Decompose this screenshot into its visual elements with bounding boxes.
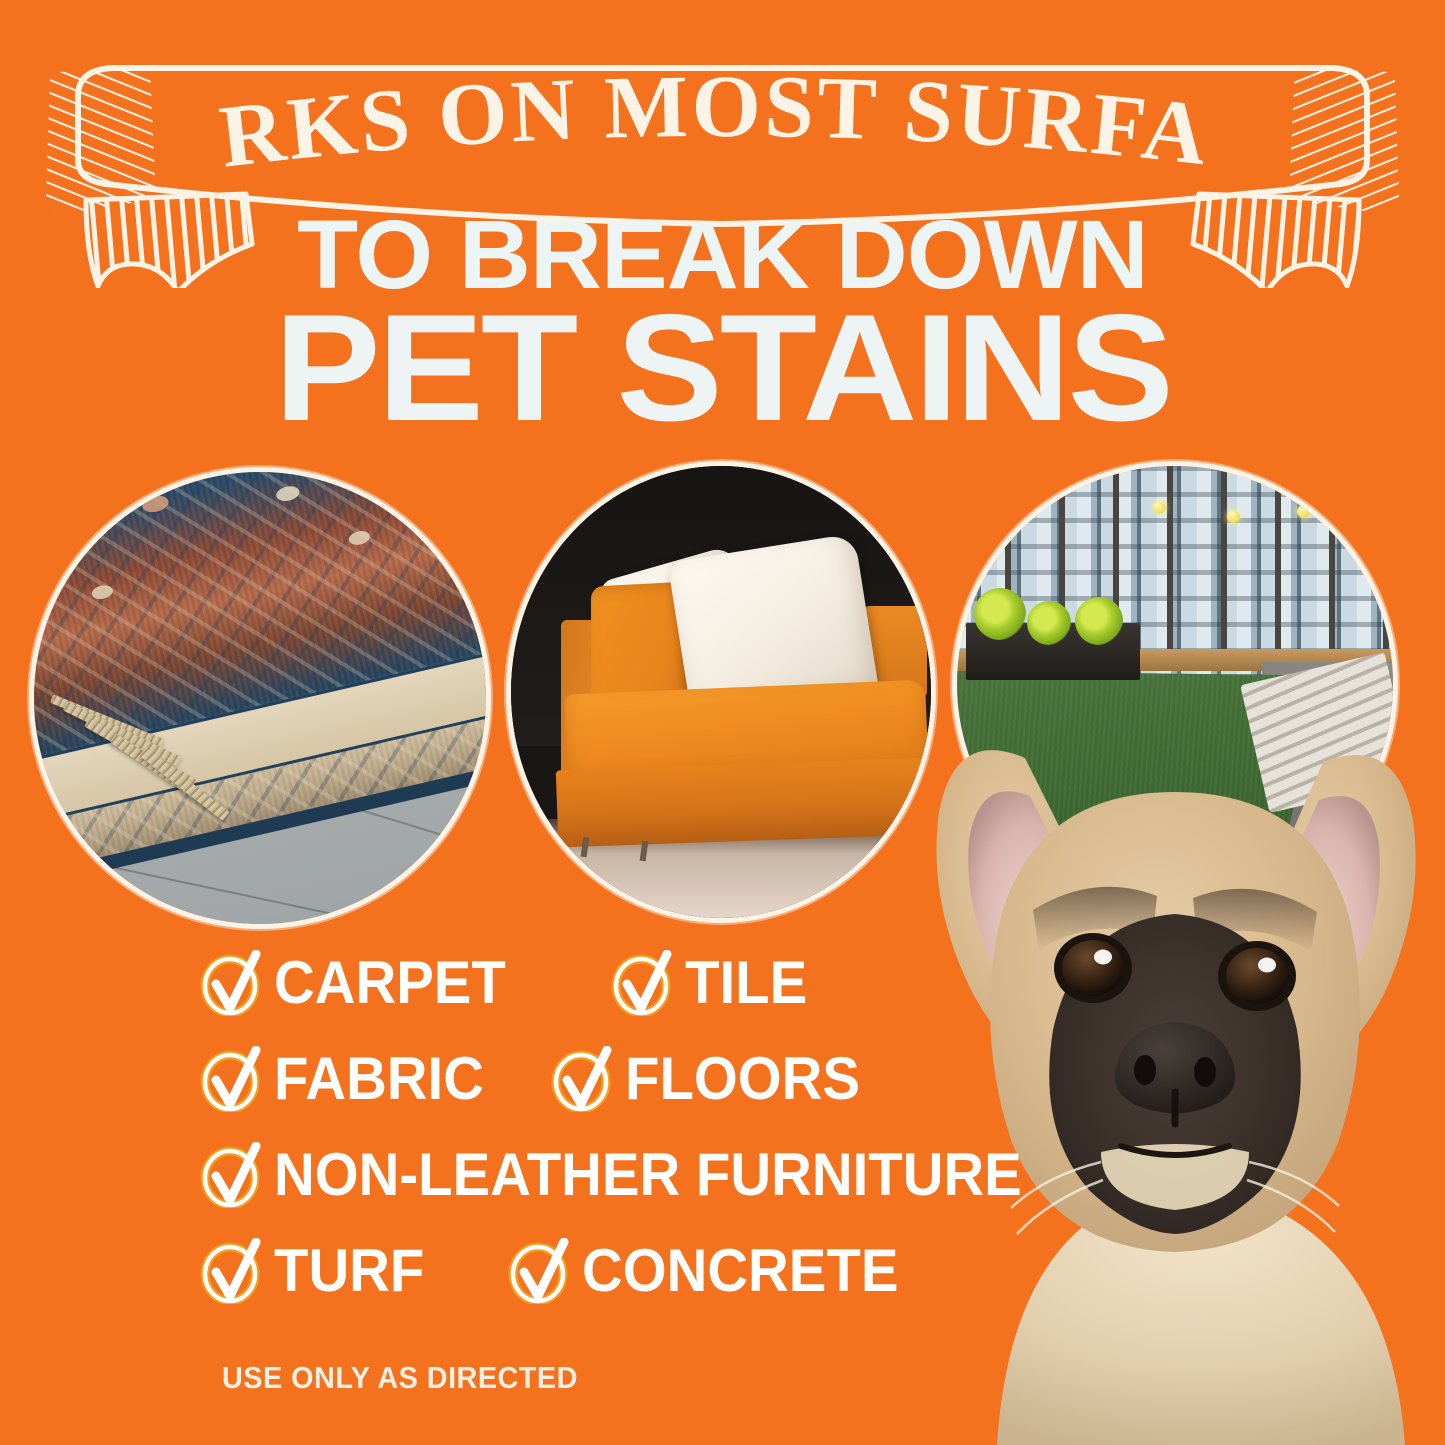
checklist-label: CONCRETE bbox=[582, 1241, 898, 1301]
checklist-row: CARPET TILE bbox=[198, 948, 1078, 1018]
checklist-label: TILE bbox=[685, 953, 807, 1013]
check-circle-icon bbox=[198, 1142, 264, 1208]
dog-eye-right-highlight bbox=[1258, 958, 1276, 973]
headline-line-2: PET STAINS bbox=[0, 292, 1445, 444]
surface-checklist: CARPET TILE bbox=[198, 948, 1078, 1332]
checklist-label: TURF bbox=[274, 1241, 424, 1301]
check-circle-icon bbox=[198, 1238, 264, 1304]
sofa-photo bbox=[511, 466, 931, 918]
check-circle-icon bbox=[198, 1046, 264, 1112]
dog-eye-left-highlight bbox=[1094, 950, 1112, 965]
checklist-item-floors[interactable]: FLOORS bbox=[549, 1046, 875, 1112]
dog-eye-right bbox=[1226, 948, 1288, 1004]
checklist-item-fabric[interactable]: FABRIC bbox=[198, 1046, 497, 1112]
sofa-base bbox=[556, 758, 928, 848]
checklist-row: FABRIC FLOORS bbox=[198, 1044, 1078, 1114]
rug-photo bbox=[34, 472, 486, 924]
disclaimer-text: USE ONLY AS DIRECTED bbox=[222, 1360, 578, 1396]
checklist-label: CARPET bbox=[274, 953, 506, 1013]
checklist-item-concrete[interactable]: CONCRETE bbox=[506, 1238, 919, 1304]
promo-graphic: WORKS ON MOST SURFACES TO BREAK DOWN PET… bbox=[0, 0, 1445, 1445]
checklist-item-carpet[interactable]: CARPET bbox=[198, 950, 521, 1016]
string-light-bulb bbox=[1227, 510, 1240, 523]
check-circle-icon bbox=[198, 950, 264, 1016]
checklist-item-turf[interactable]: TURF bbox=[198, 1238, 434, 1304]
checklist-label: FABRIC bbox=[274, 1049, 484, 1109]
checklist-item-tile[interactable]: TILE bbox=[609, 950, 815, 1016]
checklist-row: NON-LEATHER FURNITURE bbox=[198, 1140, 1078, 1210]
turf-plant bbox=[1027, 601, 1071, 645]
turf-plant bbox=[1075, 597, 1123, 645]
check-circle-icon bbox=[549, 1046, 615, 1112]
dog-nostril-right bbox=[1194, 1057, 1216, 1087]
checklist-label: FLOORS bbox=[625, 1049, 860, 1109]
checklist-label: NON-LEATHER FURNITURE bbox=[274, 1145, 1022, 1205]
check-circle-icon bbox=[609, 950, 675, 1016]
checklist-row: TURF CONCRETE bbox=[198, 1236, 1078, 1306]
check-circle-icon bbox=[506, 1238, 572, 1304]
string-light-bulb bbox=[1153, 501, 1166, 514]
dog-nostril-left bbox=[1134, 1055, 1156, 1085]
checklist-item-non-leather-furniture[interactable]: NON-LEATHER FURNITURE bbox=[198, 1142, 1070, 1208]
